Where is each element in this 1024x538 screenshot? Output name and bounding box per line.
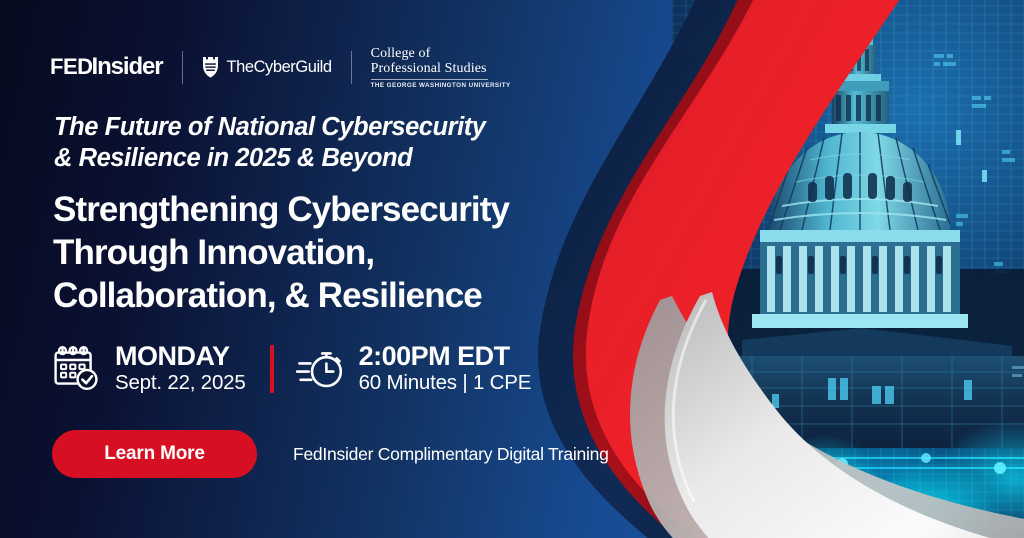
logo-divider-2 [351,51,352,84]
meta-divider [270,345,274,393]
event-day: MONDAY [115,342,246,370]
stopwatch-icon [296,346,346,392]
gwu-line-2: Professional Studies [371,61,511,76]
headline-line-1: Strengthening Cybersecurity [53,188,613,231]
cyberguild-logo-label: TheCyberGuild [227,58,332,77]
headline-line-3: Collaboration, & Resilience [53,274,613,317]
fedinsider-logo-fed: FED [50,54,93,80]
event-time: 2:00PM EDT [359,342,532,370]
gwu-line-1: College of [371,46,511,61]
banner-content: FED Insider TheCyberGuild College of [50,0,650,538]
fedinsider-logo[interactable]: FED Insider [50,53,163,81]
event-date-block: MONDAY Sept. 22, 2025 [52,342,246,395]
gwu-university-name: THE GEORGE WASHINGTON UNIVERSITY [371,82,511,89]
series-title: The Future of National Cybersecurity & R… [54,112,614,174]
gwu-cps-logo[interactable]: College of Professional Studies THE GEOR… [371,46,511,89]
headline-line-2: Through Innovation, [53,231,613,274]
calendar-check-icon [52,344,102,394]
cyberguild-logo[interactable]: TheCyberGuild [202,57,332,78]
series-title-line-1: The Future of National Cybersecurity [54,112,614,143]
event-time-block: 2:00PM EDT 60 Minutes | 1 CPE [296,342,532,395]
series-title-line-2: & Resilience in 2025 & Beyond [54,143,614,174]
learn-more-button[interactable]: Learn More [52,430,257,478]
event-details: MONDAY Sept. 22, 2025 [52,342,531,395]
training-note: FedInsider Complimentary Digital Trainin… [293,444,609,465]
gwu-rule [371,79,488,80]
event-date: Sept. 22, 2025 [115,371,246,395]
webinar-promo-banner: FED Insider TheCyberGuild College of [0,0,1024,538]
fedinsider-logo-insider: Insider [92,53,163,81]
event-duration-credit: 60 Minutes | 1 CPE [359,371,532,395]
logo-divider-1 [182,51,183,84]
page-title: Strengthening Cybersecurity Through Inno… [53,188,613,317]
cta-row: Learn More FedInsider Complimentary Digi… [52,430,609,478]
shield-castle-icon [202,57,219,78]
partner-logo-strip: FED Insider TheCyberGuild College of [50,47,511,87]
